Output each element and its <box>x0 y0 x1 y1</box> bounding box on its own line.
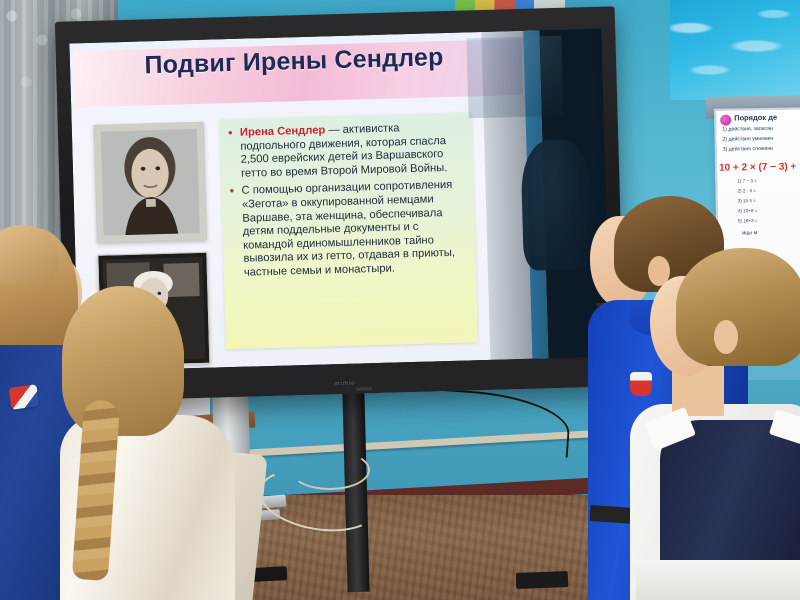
slide-bullet-list: Ирена Сендлер — активистка подпольного д… <box>226 121 468 281</box>
poster-step-3: 3) 15 5 = <box>738 198 756 203</box>
poster-step-4: 4) 10+8 = <box>738 208 758 213</box>
boy-vest-shirt-hem <box>636 560 800 600</box>
boy-vest-hair <box>676 248 800 366</box>
tv-brand-logo: mimio <box>334 381 355 388</box>
irena-sendler-portrait <box>94 122 207 243</box>
bullet-item-2: С помощью организации сопротивления «Зег… <box>227 179 468 281</box>
poster-rule-1: 1) действия, записан <box>722 126 773 133</box>
bullet-1-highlight: Ирена Сендлер <box>240 124 326 138</box>
decorative-wave-panel <box>670 0 800 100</box>
poster-step-1: 1) 7 − 3 = <box>737 178 757 183</box>
bullet-item-1: Ирена Сендлер — активистка подпольного д… <box>226 121 465 182</box>
polo-emblem-icon <box>630 372 652 396</box>
poster-rule-2: 2) действия умножен <box>722 136 773 143</box>
uniform-emblem-icon <box>9 384 40 410</box>
boy-vest-ear <box>714 320 738 354</box>
poster-step-5: 5) 18+3 = <box>738 218 758 223</box>
classroom-scene: Подвиг Ирены Сендлер <box>0 0 800 600</box>
ir-receiver <box>356 387 372 390</box>
bullet-2-text: С помощью организации сопротивления «Зег… <box>241 179 455 278</box>
poster-step-2: 2) 2 · 4 = <box>737 188 756 193</box>
poster-rule-3: 3) действия сложени <box>723 146 773 153</box>
power-cable-secondary <box>290 450 370 490</box>
poster-equation: 10 + 2 × (7 − 3) + <box>719 161 796 173</box>
magnet-icon <box>720 115 731 126</box>
poster-title: Порядок де <box>734 113 777 123</box>
slide-textbox: Ирена Сендлер — активистка подпольного д… <box>220 112 478 349</box>
power-strip-right <box>516 571 569 589</box>
screen-reflection-window <box>466 36 563 119</box>
screen-reflection-person <box>520 139 594 271</box>
girl-braid-hair <box>62 286 184 436</box>
poster-subheading: ицы м <box>742 230 757 236</box>
